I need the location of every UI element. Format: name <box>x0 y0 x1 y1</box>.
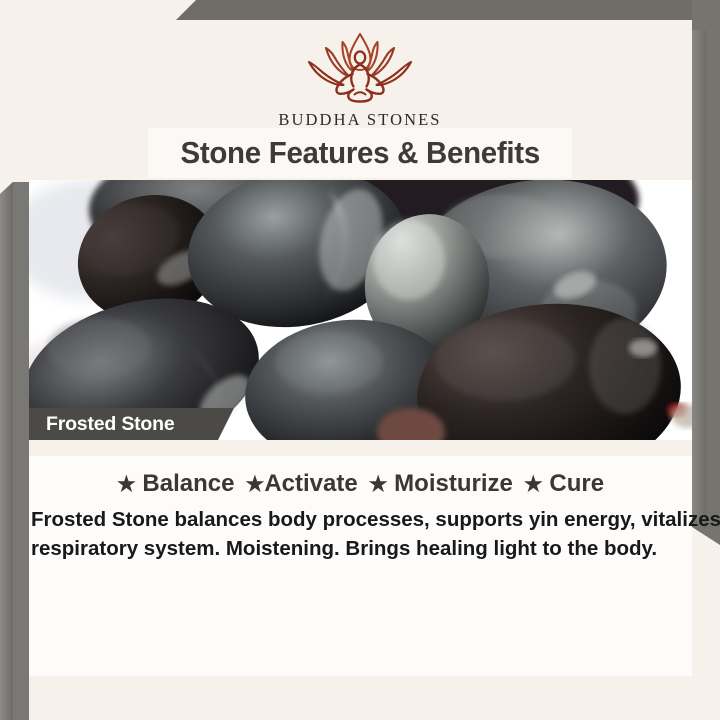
benefit-label: Moisturize <box>388 470 513 497</box>
benefit-item-cure: ★ Cure <box>524 470 604 498</box>
benefit-item-moisturize: ★ Moisturize <box>369 470 513 498</box>
infographic-page: BUDDHA STONES Stone Features & Benefits <box>0 0 720 720</box>
stone-photo-graphic <box>29 180 692 440</box>
page-title-banner: Stone Features & Benefits <box>148 128 572 178</box>
benefits-list: ★ Balance★Activate★ Moisturize★ Cure <box>29 470 692 498</box>
star-icon: ★ <box>369 473 388 496</box>
stone-label: Frosted Stone <box>29 408 234 440</box>
star-icon: ★ <box>117 473 136 496</box>
lotus-meditation-icon <box>285 28 435 106</box>
star-icon: ★ <box>245 473 264 496</box>
frame-band-left-shade <box>0 182 13 720</box>
page-title: Stone Features & Benefits <box>180 135 539 171</box>
star-icon: ★ <box>524 473 543 496</box>
benefit-label: Cure <box>543 470 604 497</box>
stone-label-text: Frosted Stone <box>29 413 175 436</box>
frame-band-top <box>0 0 720 20</box>
description-line-2: respiratory system. Moistening. Brings h… <box>31 534 694 563</box>
benefit-label: Balance <box>136 470 235 497</box>
description-line-1: Frosted Stone balances body processes, s… <box>31 505 694 534</box>
brand-name: BUDDHA STONES <box>278 110 441 130</box>
frosted-stone-photo <box>29 180 692 440</box>
brand-logo: BUDDHA STONES <box>0 28 720 130</box>
description-block: Frosted Stone balances body processes, s… <box>29 505 698 563</box>
benefit-item-balance: ★ Balance <box>117 470 235 498</box>
benefit-item-activate: ★Activate <box>245 470 357 498</box>
benefit-label: Activate <box>264 470 357 497</box>
photo-bottom-strip <box>29 440 692 456</box>
